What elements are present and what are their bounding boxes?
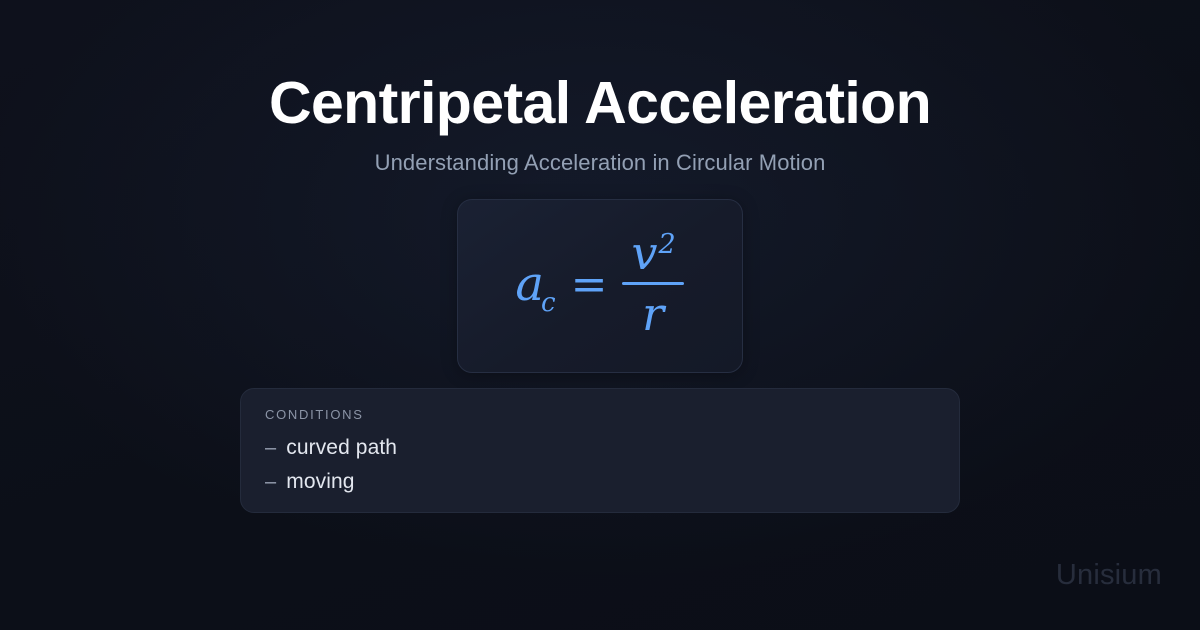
page-title: Centripetal Acceleration <box>0 72 1200 136</box>
header: Centripetal Acceleration Understanding A… <box>0 72 1200 176</box>
formula-equals-sign: = <box>571 263 608 307</box>
formula-lhs-subscript: c <box>541 288 556 318</box>
slide-canvas: Centripetal Acceleration Understanding A… <box>0 0 1200 630</box>
conditions-label: CONDITIONS <box>265 407 935 422</box>
formula-numerator-symbol: v <box>631 226 657 280</box>
formula-denominator: r <box>632 285 674 337</box>
list-item: – moving <box>265 465 935 499</box>
formula-expression: ac = v2 r <box>515 231 684 338</box>
formula-lhs: ac <box>515 260 560 308</box>
page-subtitle: Understanding Acceleration in Circular M… <box>0 150 1200 176</box>
formula-numerator-exponent: 2 <box>658 229 675 260</box>
list-bullet-dash: – <box>265 466 276 498</box>
list-bullet-dash: – <box>265 432 276 464</box>
list-item-label: moving <box>286 465 354 499</box>
formula-numerator: v2 <box>621 230 684 282</box>
formula-lhs-symbol: a <box>515 256 544 312</box>
brand-watermark: Unisium <box>1056 559 1162 592</box>
formula-fraction: v2 r <box>621 230 684 337</box>
formula-card: ac = v2 r <box>457 199 743 373</box>
conditions-list: – curved path – moving <box>265 431 935 499</box>
conditions-card: CONDITIONS – curved path – moving <box>240 388 960 513</box>
list-item: – curved path <box>265 431 935 465</box>
list-item-label: curved path <box>286 431 397 465</box>
